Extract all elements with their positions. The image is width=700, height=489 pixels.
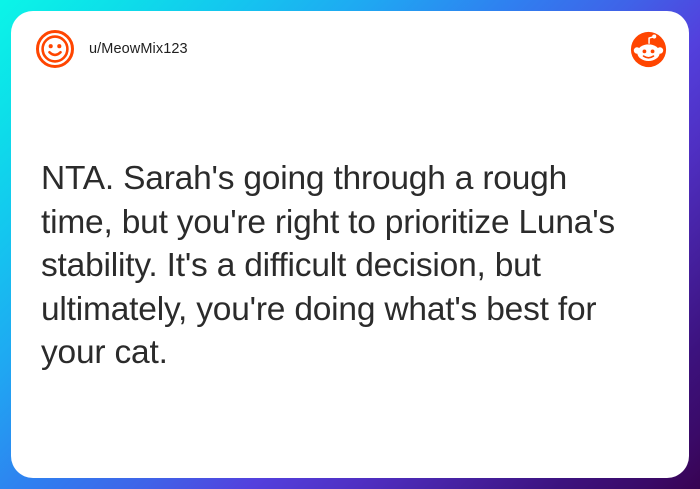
reddit-snoo-icon[interactable] [630,31,667,68]
username-label: u/MeowMix123 [89,41,188,57]
smiley-face-avatar-icon[interactable] [35,29,75,69]
comment-header: u/MeowMix123 [11,11,689,87]
screenshot-stage: u/MeowMix123 [0,0,700,489]
reddit-comment-card: u/MeowMix123 [11,11,689,478]
comment-body-text: NTA. Sarah's going through a rough time,… [41,157,641,375]
